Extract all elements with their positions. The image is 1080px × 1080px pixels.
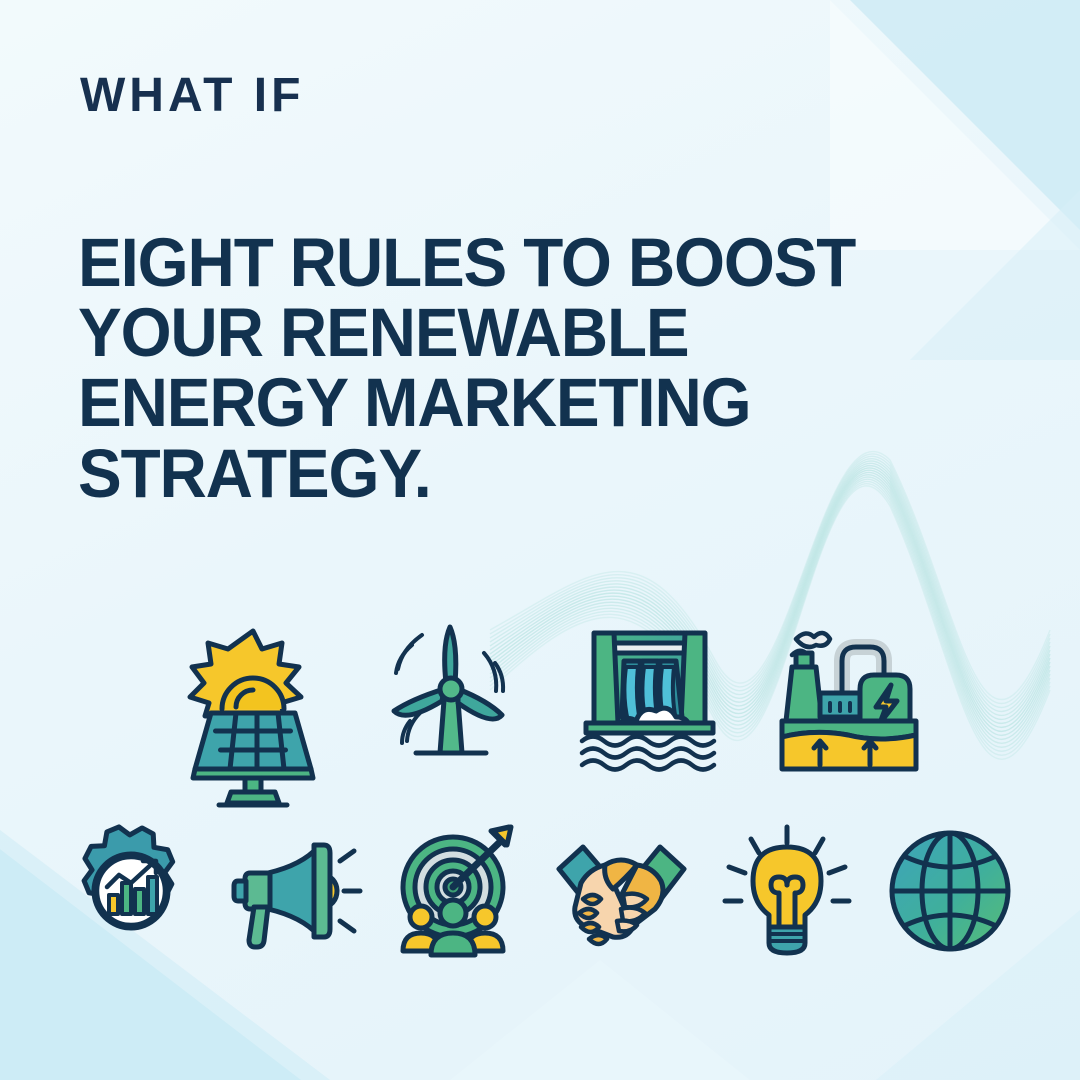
handshake-icon (549, 818, 694, 963)
headline-line-2: YOUR RENEWABLE (78, 300, 962, 366)
target-audience-icon (386, 818, 527, 963)
wind-turbine-icon (371, 612, 531, 772)
globe-icon (879, 818, 1020, 963)
lightbulb-icon (716, 818, 857, 963)
geothermal-plant-icon (767, 612, 927, 772)
page-title: EIGHT RULES TO BOOST YOUR RENEWABLE ENER… (78, 230, 1008, 511)
megaphone-icon (223, 818, 364, 963)
brand-logo: WHAT IF (80, 72, 304, 120)
brand-logo-text: WHAT IF (80, 72, 304, 120)
corner-triangle-bottom-center (300, 960, 900, 1080)
corner-triangle-top-right-a (810, 0, 1080, 260)
headline-line-1: EIGHT RULES TO BOOST (78, 230, 962, 296)
headline-line-3: ENERGY MARKETING (78, 370, 962, 436)
gear-growth-chart-icon (60, 818, 201, 963)
marketing-concept-icon-row (60, 818, 1020, 963)
solar-panel-icon (173, 612, 333, 772)
corner-triangle-top-right-b (830, 0, 1080, 250)
headline-line-4: STRATEGY. (78, 441, 962, 507)
hydro-dam-icon (569, 612, 729, 772)
renewable-energy-icon-row (170, 612, 930, 772)
poster-canvas: WHAT IF EIGHT RULES TO BOOST YOUR RENEWA… (0, 0, 1080, 1080)
